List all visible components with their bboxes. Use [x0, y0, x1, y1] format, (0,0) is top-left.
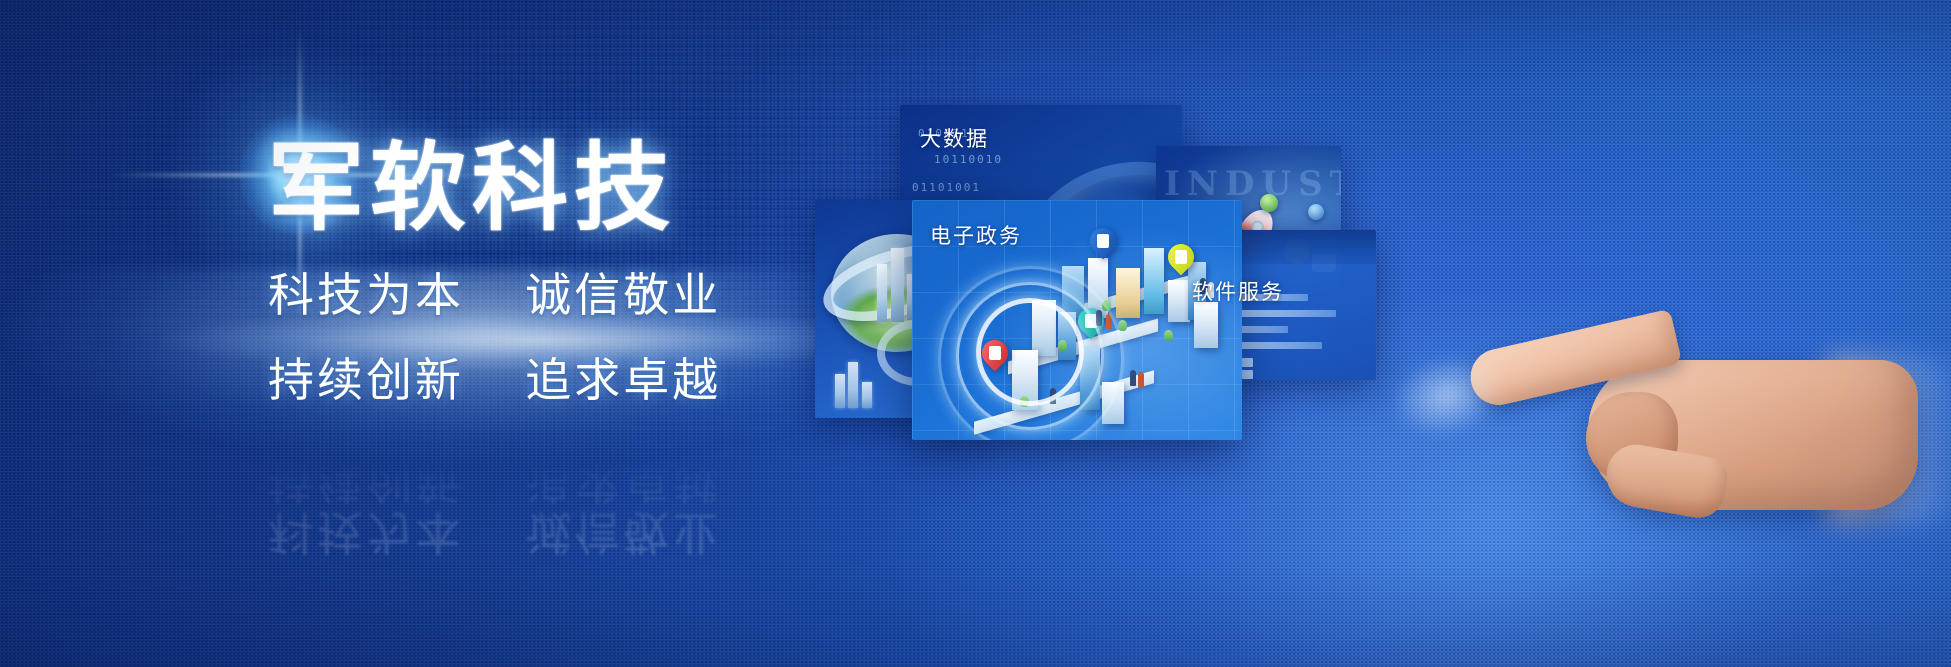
- binary-row: 10110010: [934, 153, 1003, 166]
- card-bigdata-label: 大数据: [920, 123, 989, 153]
- slogan-2-right: 追求卓越: [525, 353, 721, 407]
- slogan-1-left: 科技为本: [268, 268, 464, 322]
- slogan-2-left: 持续创新: [268, 353, 464, 407]
- card-egov-label: 电子政务: [930, 220, 1022, 250]
- reflection-2-left: 持续创新: [268, 454, 464, 508]
- radar-ripple-icon: [938, 266, 1124, 440]
- reflection-2-right: 追求卓越: [525, 454, 721, 508]
- reflection-1-left: 科技为本: [268, 505, 464, 559]
- bubble-green-icon: [1260, 194, 1278, 212]
- card-egov[interactable]: 电子政务: [912, 200, 1242, 440]
- card-software-label: 软件服务: [1192, 276, 1284, 306]
- binary-row: 01101001: [912, 181, 981, 194]
- bubble-blue-icon: [1308, 204, 1324, 220]
- reflection-1-right: 诚信敬业: [525, 505, 721, 559]
- slogan-reflection: 科技为本 诚信敬业 持续创新 追求卓越: [268, 455, 988, 557]
- slogan-1-right: 诚信敬业: [525, 268, 721, 322]
- hero-banner: 军软科技 科技为本 诚信敬业 持续创新 追求卓越 科技为本 诚信敬业 持续创新 …: [0, 0, 1951, 667]
- ghost-watermark-text: INDUSTR: [1164, 164, 1341, 204]
- pointing-hand-image: [1528, 300, 1948, 630]
